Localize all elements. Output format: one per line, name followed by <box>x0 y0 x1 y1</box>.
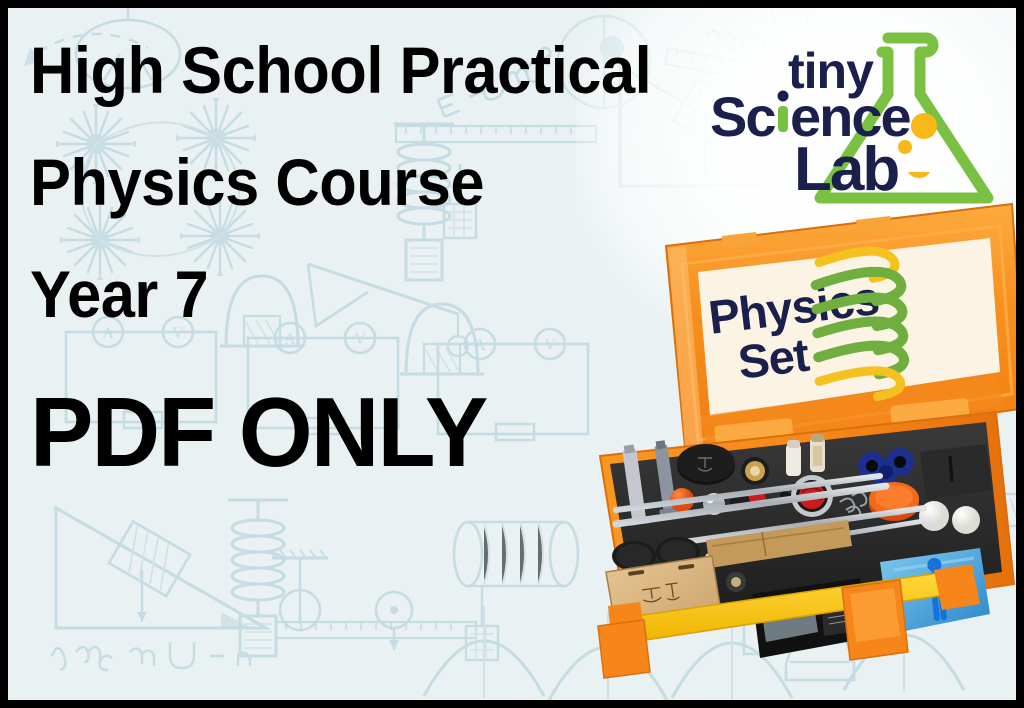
item-black-puck <box>677 444 735 485</box>
tiny-science-lab-logo: tiny Sc ence Lab <box>702 14 1002 204</box>
item-foam-ball-2 <box>952 506 980 534</box>
headline-line-2: Physics Course <box>30 144 484 220</box>
headline-pdf-only: PDF ONLY <box>30 376 486 489</box>
logo-i-dot <box>778 91 789 102</box>
item-vial-white <box>786 440 801 476</box>
logo-word-lab: Lab <box>794 135 898 204</box>
logo-i-stem <box>778 106 788 132</box>
item-vial-cork <box>810 434 825 472</box>
poster-canvas: A V <box>0 0 1024 708</box>
item-compass <box>741 457 769 485</box>
lid-label-set: Set <box>735 328 812 389</box>
logo-word-science-pre: Sc <box>710 85 775 148</box>
bubble-drop <box>908 172 930 178</box>
bubble-large <box>911 113 937 139</box>
headline-line-1: High School Practical <box>30 32 651 108</box>
physics-set-case-photo: Physics Set <box>594 190 1016 690</box>
headline-line-3: Year 7 <box>30 256 208 332</box>
poster-inner-panel: A V <box>8 8 1016 700</box>
